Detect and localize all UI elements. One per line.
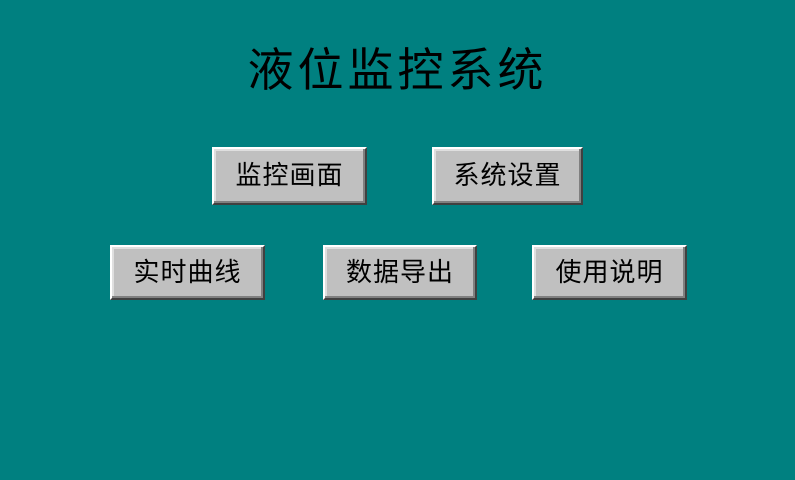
- data-export-button[interactable]: 数据导出: [323, 245, 477, 300]
- app-window: 液位监控系统 监控画面 系统设置 实时曲线 数据导出 使用说明: [0, 0, 795, 480]
- user-manual-button[interactable]: 使用说明: [532, 245, 687, 300]
- page-title: 液位监控系统: [0, 42, 795, 98]
- system-settings-button[interactable]: 系统设置: [432, 147, 583, 205]
- monitor-screen-button[interactable]: 监控画面: [212, 147, 367, 205]
- realtime-curve-button[interactable]: 实时曲线: [110, 245, 265, 300]
